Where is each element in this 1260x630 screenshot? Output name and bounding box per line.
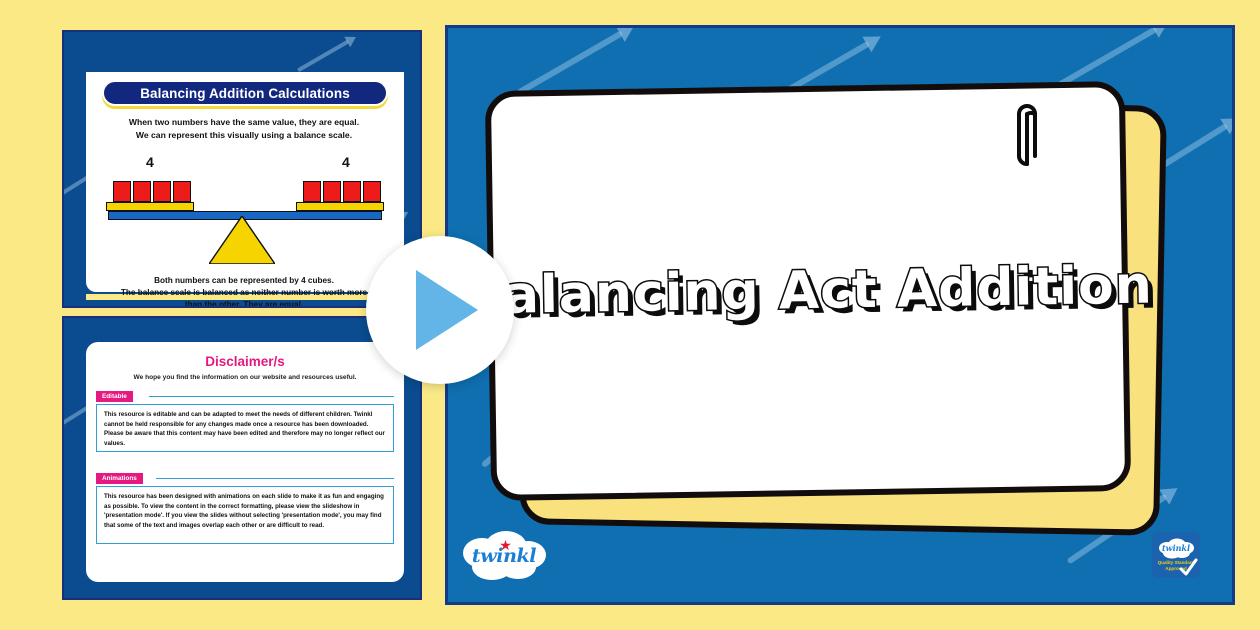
disclaimer-subtitle: We hope you find the information on our … xyxy=(86,374,404,381)
quality-standard-badge: twinkl Quality Standard Approved xyxy=(1152,532,1200,578)
tag-rule xyxy=(156,478,394,479)
paperclip-icon xyxy=(1013,98,1041,170)
right-value-label: 4 xyxy=(342,154,350,170)
cube-icon xyxy=(363,181,381,202)
right-cube-group xyxy=(303,181,381,202)
left-value-label: 4 xyxy=(146,154,154,170)
cube-icon xyxy=(343,181,361,202)
editable-tag-badge: Editable xyxy=(96,391,133,402)
twinkl-logo: twinkl xyxy=(458,527,550,585)
tag-rule xyxy=(149,396,394,397)
pencil-decoration-icon xyxy=(297,40,349,72)
animations-disclaimer-panel: This resource has been designed with ani… xyxy=(96,486,394,544)
main-slide-title-text: Balancing Act Addition xyxy=(463,256,1153,327)
slide-preview-page: Balancing Addition Calculations When two… xyxy=(0,0,1260,630)
cube-icon xyxy=(153,181,171,202)
star-icon xyxy=(500,540,511,551)
pencil-decoration-icon xyxy=(517,30,624,95)
play-triangle-icon xyxy=(416,270,478,350)
balance-scale-diagram: 4 4 xyxy=(90,154,400,266)
slide-title-text: Balancing Addition Calculations xyxy=(140,86,350,101)
disclaimer-title: Disclaimer/s xyxy=(86,354,404,369)
play-video-button[interactable] xyxy=(366,236,514,384)
right-tray xyxy=(296,202,384,211)
twinkl-wordmark: twinkl xyxy=(458,527,550,585)
cube-icon xyxy=(113,181,131,202)
slide-title-banner: Balancing Addition Calculations xyxy=(102,80,388,106)
fulcrum-triangle-icon xyxy=(209,216,275,264)
cube-icon xyxy=(323,181,341,202)
slide-footer-text: Both numbers can be represented by 4 cub… xyxy=(90,275,398,308)
check-icon xyxy=(1178,558,1198,578)
left-cube-group xyxy=(113,181,191,202)
footer-line-3: than the other. They are equal. xyxy=(90,299,398,308)
main-slide-preview[interactable]: Balancing Act Addition twinkl xyxy=(445,25,1235,605)
cube-icon xyxy=(173,181,191,202)
cube-icon xyxy=(133,181,151,202)
footer-line-2: The balance scale is balanced as neither… xyxy=(90,287,398,299)
slide-thumbnail-balancing-addition-calculations[interactable]: Balancing Addition Calculations When two… xyxy=(62,30,422,308)
footer-line-1: Both numbers can be represented by 4 cub… xyxy=(90,275,398,287)
slide-lead-text: When two numbers have the same value, th… xyxy=(94,116,394,142)
lead-line-1: When two numbers have the same value, th… xyxy=(94,116,394,129)
left-tray xyxy=(106,202,194,211)
twinkl-wordmark: twinkl xyxy=(1157,537,1195,559)
lead-line-2: We can represent this visually using a b… xyxy=(94,129,394,142)
slide-thumbnail-disclaimers[interactable]: Disclaimer/s We hope you find the inform… xyxy=(62,316,422,600)
editable-disclaimer-panel: This resource is editable and can be ada… xyxy=(96,404,394,452)
cube-icon xyxy=(303,181,321,202)
animations-tag-badge: Animations xyxy=(96,473,143,484)
